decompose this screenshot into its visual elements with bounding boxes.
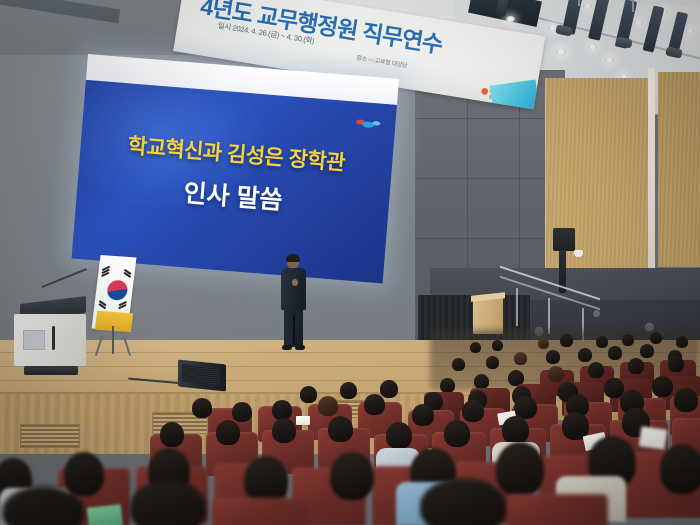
handout-paper bbox=[639, 426, 668, 449]
wall-mounted-speaker bbox=[553, 228, 575, 251]
downlight bbox=[583, 3, 592, 9]
audience-head bbox=[444, 420, 470, 447]
audience-head bbox=[546, 350, 560, 364]
downlight bbox=[506, 16, 515, 22]
wall-light-strip bbox=[648, 68, 655, 268]
audience-head bbox=[608, 346, 622, 360]
audience-head bbox=[340, 382, 357, 399]
audience-head bbox=[440, 378, 455, 393]
audience-head bbox=[130, 480, 206, 525]
seat bbox=[508, 494, 608, 525]
downlight bbox=[588, 44, 597, 50]
slide-corner-logo bbox=[355, 118, 382, 131]
slide-surface: 학교혁신과 김성은 장학관 인사 말씀 bbox=[72, 80, 397, 283]
audience-head bbox=[622, 334, 634, 346]
downlight bbox=[605, 57, 614, 63]
seat bbox=[212, 498, 308, 525]
truss-rod bbox=[578, 0, 580, 6]
audience-head bbox=[628, 358, 644, 374]
wooden-lectern-body bbox=[473, 298, 503, 334]
taegeuk-symbol bbox=[104, 277, 130, 303]
flag-gold-fringe bbox=[95, 311, 133, 332]
audience-head bbox=[364, 394, 385, 415]
audience-head bbox=[650, 332, 662, 344]
audience-head bbox=[232, 402, 252, 422]
audience-head bbox=[192, 398, 212, 418]
audience-head bbox=[300, 386, 317, 403]
audience-head bbox=[538, 338, 549, 349]
audience-head bbox=[318, 396, 338, 416]
railing-post bbox=[548, 298, 550, 334]
audience-head bbox=[640, 344, 654, 358]
acoustic-panel-tan-2 bbox=[658, 72, 700, 267]
audience-head bbox=[596, 336, 608, 348]
audience-head bbox=[244, 456, 288, 504]
audience-head bbox=[452, 358, 465, 371]
audience-head bbox=[470, 342, 481, 353]
audience-head bbox=[462, 400, 484, 422]
audience-head bbox=[514, 352, 527, 365]
handout-paper bbox=[296, 416, 310, 425]
presenter-hair bbox=[286, 254, 300, 262]
audience-head bbox=[502, 416, 529, 444]
audience-head bbox=[674, 388, 698, 412]
audience-head bbox=[492, 340, 503, 351]
banner-venue: 장소 ○○교육청 대강당 bbox=[356, 53, 408, 70]
audience-head bbox=[330, 452, 374, 500]
presenter-hand bbox=[292, 279, 298, 286]
audience-head bbox=[474, 374, 489, 389]
railing-post bbox=[516, 288, 518, 326]
audience-area bbox=[0, 330, 700, 525]
truss-rod bbox=[632, 0, 634, 12]
auditorium-photo: 4년도 교무행정원 직무연수 일시 2024. 4. 26.(금) ~ 4. 3… bbox=[0, 0, 700, 525]
downlight bbox=[556, 48, 566, 55]
audience-head bbox=[548, 366, 564, 382]
audience-head bbox=[652, 376, 673, 397]
audience-head bbox=[64, 452, 104, 496]
audience-head bbox=[386, 422, 412, 449]
downlight bbox=[686, 28, 694, 34]
audience-head bbox=[560, 334, 573, 347]
audience-head bbox=[676, 336, 688, 348]
audience-head bbox=[588, 362, 604, 378]
audience-head bbox=[412, 404, 434, 426]
audience-head bbox=[486, 356, 499, 369]
audience-head bbox=[160, 422, 184, 447]
audience-head bbox=[380, 380, 398, 398]
downlight bbox=[634, 20, 643, 26]
security-camera bbox=[574, 250, 583, 257]
audience-head bbox=[216, 420, 240, 445]
projection-screen: 학교혁신과 김성은 장학관 인사 말씀 bbox=[72, 54, 399, 283]
audience-head bbox=[578, 348, 592, 362]
audience-head bbox=[272, 400, 292, 420]
green-handout bbox=[87, 504, 123, 525]
audience-head bbox=[272, 418, 296, 443]
audience-head bbox=[660, 444, 700, 494]
audience-head bbox=[668, 356, 684, 372]
audience-head bbox=[420, 478, 506, 525]
audience-head bbox=[328, 416, 353, 442]
audience-head bbox=[496, 442, 544, 496]
